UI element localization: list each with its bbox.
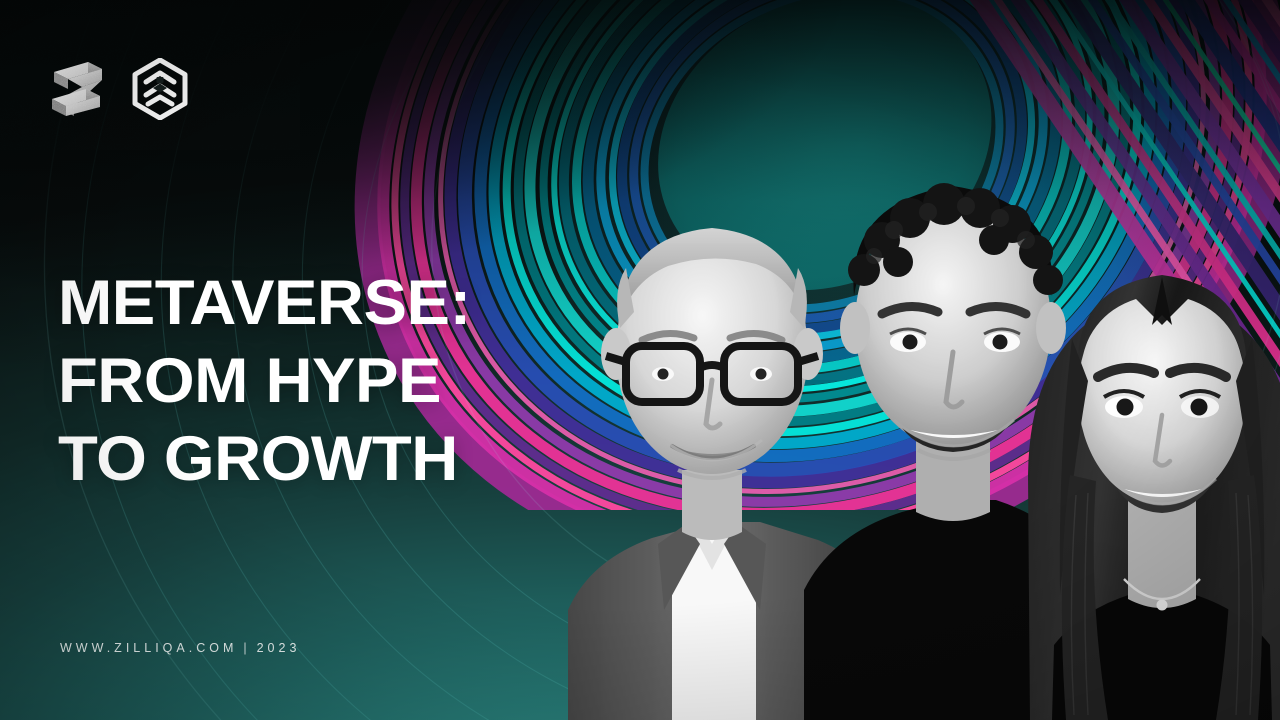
footer-year: 2023 [257,641,301,655]
zilliqa-logo[interactable] [48,58,106,120]
title-card-canvas: METAVERSE: FROM HYPE TO GROWTH WWW.ZILLI… [0,0,1280,720]
headline-line-1: METAVERSE: [58,264,700,342]
headline-line-2: FROM HYPE [58,342,700,420]
footer-website: WWW.ZILLIQA.COM [60,641,237,655]
headline-line-3: TO GROWTH [58,420,700,498]
metapolis-hex-logo[interactable] [132,58,188,120]
footer-separator: | [237,641,256,655]
footer-credit: WWW.ZILLIQA.COM|2023 [60,641,300,655]
speaker-3-portrait [1012,175,1280,720]
logo-row [48,58,188,120]
page-title: METAVERSE: FROM HYPE TO GROWTH [58,264,700,498]
